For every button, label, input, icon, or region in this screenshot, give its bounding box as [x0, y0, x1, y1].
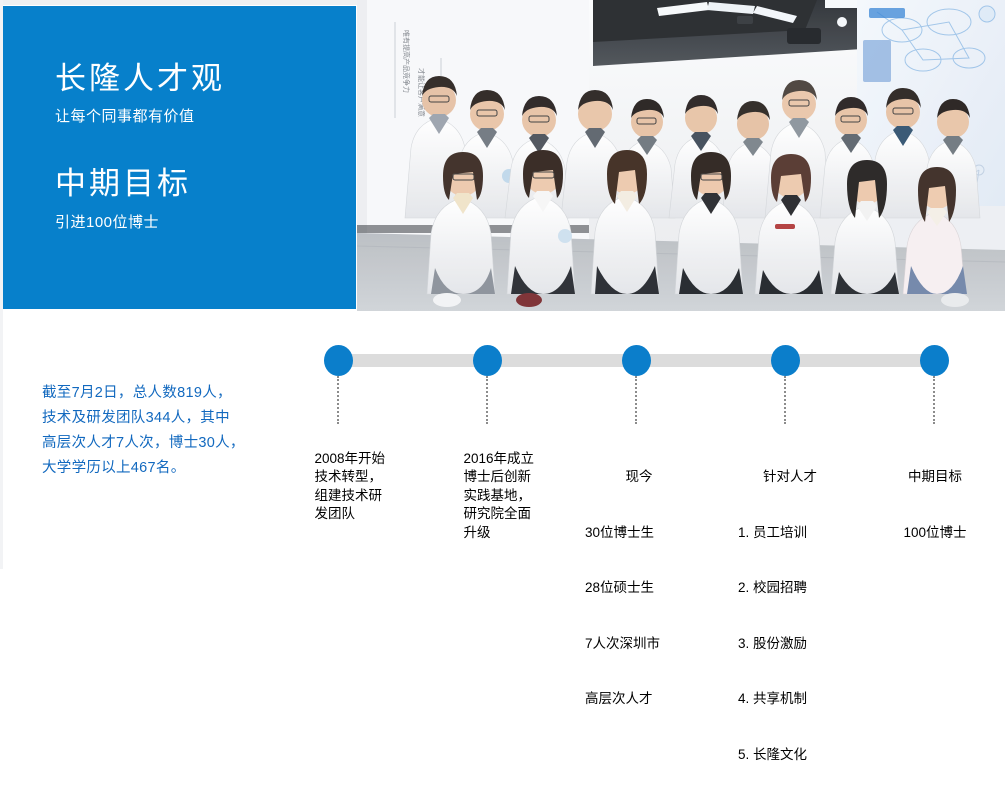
timeline-label-1-line-1: 2008年开始 [315, 451, 386, 466]
timeline-stem-4 [784, 376, 786, 424]
timeline-label-4-line-5: 5. 长隆文化 [738, 746, 842, 765]
slide-canvas: 长隆人才观 让每个同事都有价值 中期目标 引进100位博士 [0, 0, 1005, 569]
panel-subtitle-primary: 让每个同事都有价值 [55, 107, 356, 127]
stats-line-3: 高层次人才7人次，博士30人， [42, 431, 292, 456]
timeline-label-1: 2008年开始 技术转型， 组建技术研 发团队 [292, 431, 394, 542]
blue-headline-panel: 长隆人才观 让每个同事都有价值 中期目标 引进100位博士 [3, 6, 356, 309]
timeline-label-4: 针对人才 1. 员工培训 2. 校园招聘 3. 股份激励 4. 共享机制 5. … [738, 431, 842, 801]
timeline-label-5-line-2: 100位博士 [886, 524, 984, 543]
timeline-label-5-line-1: 中期目标 [886, 468, 984, 487]
timeline-label-2-line-1: 2016年成立 [464, 451, 535, 466]
timeline-stem-2 [486, 376, 488, 424]
team-group-photo: 唯有提高产品竞争力 才能让客户满意 [357, 0, 1005, 311]
stats-line-1: 截至7月2日，总人数819人， [42, 381, 292, 406]
timeline-label-1-line-2: 技术转型， [315, 469, 383, 484]
timeline-label-3-line-4: 高层次人才 [585, 690, 693, 709]
timeline-node-5[interactable] [920, 345, 949, 376]
timeline-label-4-line-4: 4. 共享机制 [738, 690, 842, 709]
timeline-label-3-line-2: 28位硕士生 [585, 579, 693, 598]
timeline-label-2-line-3: 实践基地， [464, 488, 532, 503]
timeline-stem-1 [337, 376, 339, 424]
timeline-label-4-header: 针对人才 [738, 468, 842, 487]
timeline-label-3-line-1: 30位博士生 [585, 524, 693, 543]
timeline-label-3-header: 现今 [585, 468, 693, 487]
timeline-label-4-line-3: 3. 股份激励 [738, 635, 842, 654]
timeline-label-5: 中期目标 100位博士 [886, 431, 984, 579]
panel-title-primary: 长隆人才观 [55, 62, 356, 96]
timeline-label-3-line-3: 7人次深圳市 [585, 635, 693, 654]
timeline-stem-5 [933, 376, 935, 424]
timeline-label-3: 现今 30位博士生 28位硕士生 7人次深圳市 高层次人才 [585, 431, 693, 746]
stats-line-2: 技术及研发团队344人，其中 [42, 406, 292, 431]
timeline-stem-3 [635, 376, 637, 424]
timeline-label-1-line-3: 组建技术研 [315, 488, 383, 503]
timeline-label-1-line-4: 发团队 [315, 506, 356, 521]
timeline-node-4[interactable] [771, 345, 800, 376]
timeline-label-4-line-1: 1. 员工培训 [738, 524, 842, 543]
timeline-label-2-line-2: 博士后创新 [464, 469, 532, 484]
headcount-stats-text: 截至7月2日，总人数819人， 技术及研发团队344人，其中 高层次人才7人次，… [42, 381, 292, 481]
timeline-node-2[interactable] [473, 345, 502, 376]
timeline-label-2-line-4: 研究院全面 [464, 506, 532, 521]
timeline-label-4-line-2: 2. 校园招聘 [738, 579, 842, 598]
panel-title-secondary: 中期目标 [55, 167, 356, 201]
panel-subtitle-secondary: 引进100位博士 [55, 213, 356, 233]
timeline-node-1[interactable] [324, 345, 353, 376]
timeline-node-3[interactable] [622, 345, 651, 376]
timeline-label-2: 2016年成立 博士后创新 实践基地， 研究院全面 升级 [441, 431, 543, 561]
timeline-label-2-line-5: 升级 [464, 525, 491, 540]
stats-line-4: 大学学历以上467名。 [42, 456, 292, 481]
